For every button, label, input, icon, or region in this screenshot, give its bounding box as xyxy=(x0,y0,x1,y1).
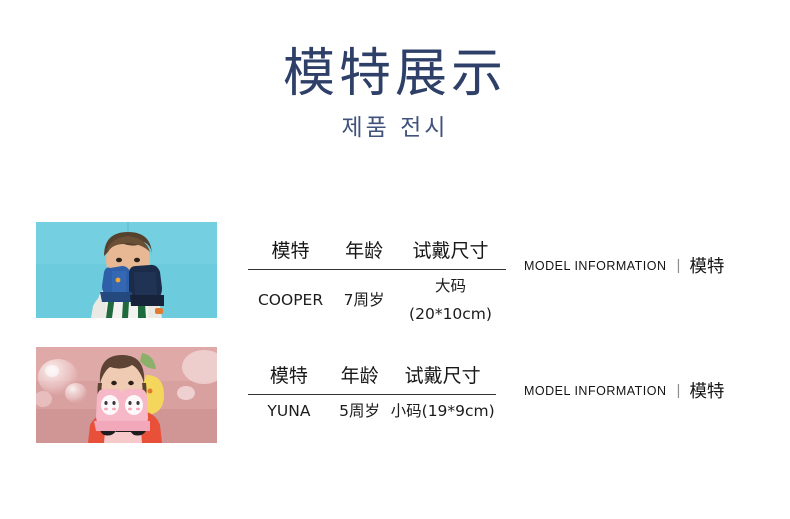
col-header-age: 年龄 xyxy=(333,236,395,270)
table-header-row: 模特 年龄 试戴尺寸 xyxy=(248,236,506,270)
boy-model-photo-graphic xyxy=(36,222,217,318)
model-information-label: MODEL INFORMATION | 模特 xyxy=(524,253,724,278)
cell-model-name: YUNA xyxy=(248,395,330,427)
cell-model-size: 小码(19*9cm) xyxy=(389,395,496,427)
spec-table: 模特 年龄 试戴尺寸 COOPER 7周岁 大码(20*10cm) xyxy=(248,236,506,329)
model-information-label: MODEL INFORMATION | 模特 xyxy=(524,378,724,403)
cell-model-size: 大码(20*10cm) xyxy=(395,270,506,330)
col-header-model: 模特 xyxy=(248,361,330,395)
model-information-en: MODEL INFORMATION xyxy=(524,259,667,273)
cell-model-age: 7周岁 xyxy=(333,270,395,330)
page-header: 模特展示 제품 전시 xyxy=(0,44,790,142)
col-header-size: 试戴尺寸 xyxy=(389,361,496,395)
col-header-model: 模特 xyxy=(248,236,333,270)
page-title: 模特展示 xyxy=(0,44,790,104)
model-row: 模特 年龄 试戴尺寸 COOPER 7周岁 大码(20*10cm) MODEL … xyxy=(0,222,790,342)
col-header-size: 试戴尺寸 xyxy=(395,236,506,270)
page-subtitle: 제품 전시 xyxy=(0,114,790,142)
model-information-separator: | xyxy=(677,257,681,274)
table-header-row: 模特 年龄 试戴尺寸 xyxy=(248,361,496,395)
model-row: 模特 年龄 试戴尺寸 YUNA 5周岁 小码(19*9cm) MODEL INF… xyxy=(0,347,790,467)
girl-model-photo xyxy=(36,347,217,443)
spec-table: 模特 年龄 试戴尺寸 YUNA 5周岁 小码(19*9cm) xyxy=(248,361,496,426)
table-row: COOPER 7周岁 大码(20*10cm) xyxy=(248,270,506,330)
model-information-en: MODEL INFORMATION xyxy=(524,384,667,398)
table-row: YUNA 5周岁 小码(19*9cm) xyxy=(248,395,496,427)
model-information-separator: | xyxy=(677,382,681,399)
cell-model-age: 5周岁 xyxy=(330,395,390,427)
cell-model-name: COOPER xyxy=(248,270,333,330)
model-information-cn: 模特 xyxy=(689,378,724,403)
boy-model-photo xyxy=(36,222,217,318)
model-spec-table: 模特 年龄 试戴尺寸 COOPER 7周岁 大码(20*10cm) xyxy=(248,236,506,329)
model-information-cn: 模特 xyxy=(689,253,724,278)
col-header-age: 年龄 xyxy=(330,361,390,395)
girl-model-photo-graphic xyxy=(36,347,217,443)
model-spec-table: 模特 年龄 试戴尺寸 YUNA 5周岁 小码(19*9cm) xyxy=(248,361,496,426)
